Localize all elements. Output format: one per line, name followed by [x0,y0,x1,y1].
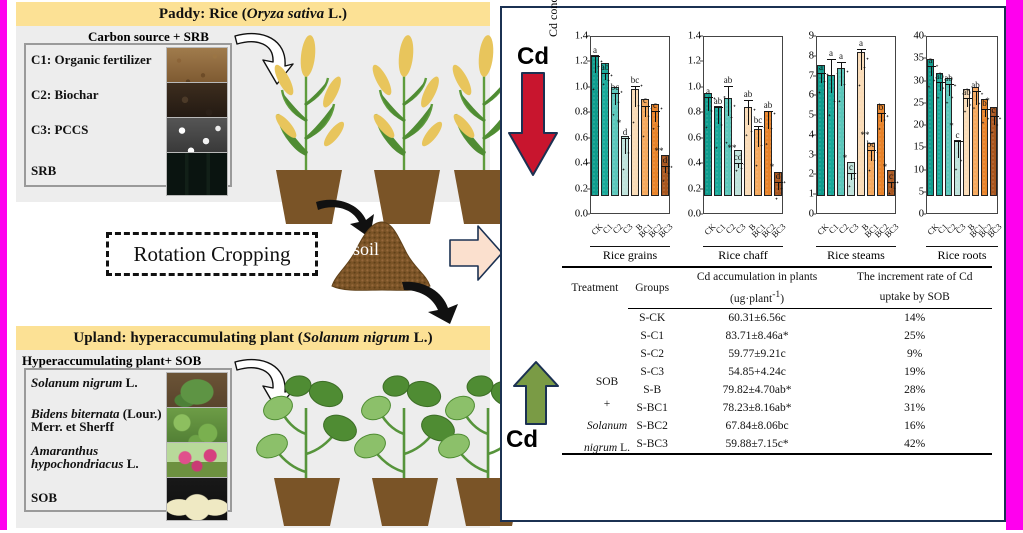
data-point-marker [670,165,673,168]
y-axis-tick-mark [587,163,590,164]
td-group: S-CK [628,308,677,327]
significance-letter: c [889,171,893,181]
y-axis-tick-mark [587,214,590,215]
th-unit-suffix: ) [780,293,784,305]
y-axis-label: Cd concentration (mg/kg) [546,0,561,50]
bar [817,65,825,196]
error-bar-cap [641,106,650,107]
legend-bidens-authority: (Lour.) [120,406,162,421]
soil-label: soil [353,239,379,260]
y-axis-tick-mark [813,95,816,96]
legend-item-c3: C3: PCCS [26,115,230,150]
td-accumulation: 67.84±8.06bc [677,417,838,435]
th-accumulation-line1: Cd accumulation in plants [677,267,838,286]
td-treatment-spacer [562,417,628,435]
td-increment: 31% [837,399,992,417]
legend-c1-text: C1: Organic fertilizer [31,53,152,66]
significance-letter: cd [734,152,743,162]
bar [857,52,865,196]
error-bar [645,106,646,117]
error-bar [871,150,872,161]
paddy-panel-title: Paddy: Rice (Oryza sativa L.) [16,2,490,26]
td-group: S-BC3 [628,435,677,454]
error-bar-cap [936,82,945,83]
y-axis-tick-mark [700,137,703,138]
error-bar [949,84,950,96]
td-accumulation: 83.71±8.46a* [677,327,838,345]
error-bar [851,173,852,180]
hyperaccumulating-plant-label: Hyperaccumulating plant+ SOB [22,353,201,369]
error-bar-cap [764,111,773,112]
upland-title-species: Solanum nigrum [303,330,410,346]
arrow-to-upland-icon [400,278,464,324]
chart-rice-roots: 0510152025303540aCKabC1abC2c*C3abBabBC1b… [900,28,1000,260]
error-bar-cap [981,109,990,110]
error-bar [728,86,729,117]
table-row: S-BC267.84±8.06bc16% [562,417,992,435]
y-axis-tick-mark [587,86,590,87]
td-increment: 28% [837,381,992,399]
legend-c3-name: PCCS [54,122,88,137]
cd-decrease-indicator: Cd [507,45,559,185]
carbon-source-legend-box: C1: Organic fertilizer C2: Biochar [24,43,232,187]
td-accumulation: 59.77±9.21c [677,345,838,363]
bar-texture [828,76,834,195]
error-bar [931,66,932,77]
upland-panel-title: Upland: hyperaccumulating plant (Solanum… [16,326,490,350]
bar [927,59,935,197]
th-increment-line1: The increment rate of Cd [837,267,992,286]
green-up-arrow-icon [512,360,562,426]
bar-texture [858,53,864,195]
error-bar-cap [867,150,876,151]
y-axis-tick-mark [700,214,703,215]
legend-solanum-text: Solanum nigrum L. [31,376,138,389]
y-axis-tick-mark [923,36,926,37]
error-bar-cap [837,62,846,63]
legend-c3-text: C3: PCCS [31,123,88,136]
y-axis-tick-mark [700,86,703,87]
legend-c3-code: C3: [31,122,51,137]
error-bar-cap [887,182,896,183]
error-bar [615,93,616,104]
significance-letter: ab [601,62,610,72]
cd-accumulation-table: Treatment Groups Cd accumulation in plan… [562,266,992,455]
td-increment: 42% [837,435,992,454]
td-group: S-BC1 [628,399,677,417]
legend-c2-text: C2: Biochar [31,88,99,101]
error-bar [881,113,882,122]
paddy-title-part1: Paddy: Rice ( [159,6,247,22]
paddy-panel: Paddy: Rice (Oryza sativa L.) Carbon sou… [16,2,490,202]
significance-letter: ab [714,96,723,106]
significance-letter: ab [962,87,971,97]
data-point-marker [896,181,899,184]
y-axis-tick-mark [587,188,590,189]
transition-right-arrow-icon [448,222,504,284]
error-bar [985,109,986,117]
paddy-title-part2: L.) [324,6,347,22]
srb-bottles-thumbnail [166,152,228,196]
data-point-marker [999,117,1002,120]
legend-c1-name: Organic fertilizer [54,52,151,67]
significance-letter: ab [935,71,944,81]
td-treatment-spacer [562,381,628,399]
error-bar-cap [963,98,972,99]
error-bar-cap [611,93,620,94]
significance-letter: ab [724,75,733,85]
td-accumulation: 60.31±6.56c [677,308,838,327]
y-axis-tick-mark [923,102,926,103]
th-accumulation-line2: (ug·plant-1) [677,286,838,308]
legend-item-c1: C1: Organic fertilizer [26,45,230,80]
significance-letter: c [992,105,996,115]
significance-star: * [843,153,848,163]
paddy-title-species: Oryza sativa [247,6,324,22]
significance-letter: bc [611,82,620,92]
chart-rice-grains: 0.00.20.40.60.81.01.21.4aCKabC1bcC2d*C3b… [564,28,672,260]
significance-letter: c [653,100,657,110]
td-increment: 16% [837,417,992,435]
significance-letter: d [623,127,628,137]
group-rule [816,246,896,247]
error-bar [841,62,842,86]
y-axis-tick-mark [587,61,590,62]
error-bar [861,49,862,70]
table-header-row: Treatment Groups Cd accumulation in plan… [562,267,992,286]
td-accumulation: 78.23±8.16ab* [677,399,838,417]
data-point-marker [783,181,786,184]
error-bar-cap [877,113,886,114]
significance-letter: c [643,95,647,105]
error-bar-cap [927,66,936,67]
error-bar [655,111,656,122]
significance-letter: a [706,86,710,96]
significance-star: * [985,96,990,106]
error-bar-cap [714,107,723,108]
error-bar-cap [601,73,610,74]
error-bar [595,56,596,73]
y-axis-tick-mark [813,134,816,135]
y-axis-tick-mark [700,61,703,62]
error-bar [665,166,666,174]
paddy-panel-body: Carbon source + SRB C1: Organic fertiliz… [16,26,490,198]
legend-bidens-text: Bidens biternata (Lour.) Merr. et Sherff [31,407,162,434]
table-row: S-B79.82±4.70ab*28% [562,381,992,399]
significance-star: ** [728,143,737,153]
significance-letter: a [859,38,863,48]
group-rule [590,246,670,247]
solanum-pot-1 [272,476,342,533]
error-bar-cap [651,111,660,112]
significance-star: * [770,162,775,172]
error-bar-cap [774,182,783,183]
legend-srb-code: SRB [31,163,56,178]
legend-sob-text: SOB [31,491,57,504]
significance-star: * [949,121,954,131]
left-illustration-column: Paddy: Rice (Oryza sativa L.) Carbon sou… [8,0,498,530]
significance-star: ** [655,146,664,156]
legend-amaranthus-species: hypochondriacus [31,456,123,471]
error-bar-cap [621,138,630,139]
significance-letter: a [819,62,823,72]
table-row: S-C259.77±9.21c9% [562,345,992,363]
error-bar [976,91,977,105]
hyperaccumulator-legend-box: Solanum nigrum L. Bidens biternata (Lour… [24,368,232,512]
legend-solanum-suffix: L. [122,375,137,390]
significance-letter: c [956,130,960,140]
th-treatment: Treatment [562,267,628,308]
y-axis-tick-mark [923,169,926,170]
significance-letter: a [593,45,597,55]
significance-letter: c [849,162,853,172]
y-axis-tick-mark [813,214,816,215]
td-group: S-C1 [628,327,677,345]
significance-letter: a [839,51,843,61]
error-bar [718,107,719,124]
group-rule [703,246,783,247]
error-bar-cap [954,141,963,142]
red-down-arrow-icon [507,71,559,179]
solanum-pot-2 [370,476,440,533]
bar [837,68,845,196]
th-increment-line2: uptake by SOB [837,286,992,308]
error-bar-cap [734,163,743,164]
y-axis-tick-mark [923,191,926,192]
error-bar [635,86,636,108]
error-bar-cap [945,84,954,85]
td-treatment-spacer [562,363,628,381]
bar [827,75,835,196]
significance-letter: bc [631,75,640,85]
significance-letter: bc [867,139,876,149]
th-unit-sup: -1 [772,289,780,300]
error-bar [708,97,709,111]
td-increment: 9% [837,345,992,363]
left-accent-bar [0,0,7,530]
significance-letter: a [829,48,833,58]
rotation-cropping-box: Rotation Cropping [106,232,318,276]
table-row: S-BC178.23±8.16ab*31% [562,399,992,417]
legend-srb-text: SRB [31,164,56,177]
upland-panel-body: Hyperaccumulating plant+ SOB Solanum nig… [16,350,490,524]
significance-letter: a [929,55,933,65]
y-axis-tick-mark [587,137,590,138]
bar-texture [937,74,943,195]
table-area: Cd SOB + Solanum nigrum L. Treatment Gro… [502,260,1004,522]
y-axis-tick-mark [813,55,816,56]
y-axis-tick-mark [813,194,816,195]
td-increment: 25% [837,327,992,345]
bar-texture [602,64,608,196]
significance-star: ** [861,130,870,140]
td-treatment-spacer [562,308,628,327]
y-axis-tick-mark [700,36,703,37]
legend-c2-code: C2: [31,87,51,102]
error-bar-cap [847,173,856,174]
error-bar [967,98,968,106]
cd-up-label: Cd [506,426,562,454]
chart-rice-steams: 0123456789aCKaC1aC2c*C3aBbc**BC1bBC2c*BC… [790,28,898,260]
chart-rice-chaff: 0.00.20.40.60.81.01.21.4aCKabC1abC2cd**C… [677,28,785,260]
y-axis-tick-mark [813,75,816,76]
bar-texture [592,56,598,195]
th-groups: Groups [628,267,677,308]
error-bar-cap [857,49,866,50]
significance-letter: bc [754,115,763,125]
y-axis-tick-mark [923,147,926,148]
legend-item-amaranthus: Amaranthus hypochondriacus L. [26,440,230,475]
error-bar-cap [817,73,826,74]
cd-increase-indicator: Cd [506,360,562,446]
upland-title-part2: L.) [410,330,433,346]
y-axis-tick-mark [700,188,703,189]
table-head: Treatment Groups Cd accumulation in plan… [562,267,992,308]
table-row: S-BC359.88±7.15c*42% [562,435,992,454]
error-bar-cap [972,91,981,92]
td-treatment-spacer [562,435,628,454]
table-row: S-C183.71±8.46a*25% [562,327,992,345]
significance-letter: ab [971,80,980,90]
y-axis-tick-mark [923,80,926,81]
td-group: S-C2 [628,345,677,363]
bar [936,73,944,196]
y-axis-tick-mark [587,36,590,37]
right-accent-bar [1006,0,1023,530]
bar [601,63,609,197]
legend-amaranthus-text: Amaranthus hypochondriacus L. [31,444,139,471]
th-unit-prefix: (ug·plant [730,293,772,305]
legend-c2-name: Biochar [54,87,98,102]
significance-star: * [883,162,888,172]
td-treatment-spacer [562,399,628,417]
td-accumulation: 54.85+4.24c [677,363,838,381]
table-row: S-CK60.31±6.56c14% [562,308,992,327]
upland-panel: Upland: hyperaccumulating plant (Solanum… [16,326,490,528]
error-bar-cap [827,59,836,60]
graphical-abstract-page: Paddy: Rice (Oryza sativa L.) Carbon sou… [0,0,1023,530]
significance-letter: ab [744,89,753,99]
legend-item-sob: SOB [26,475,230,510]
error-bar [994,116,995,125]
error-bar [831,59,832,94]
error-bar-cap [990,116,999,117]
error-bar [625,138,626,155]
error-bar-cap [661,166,670,167]
td-increment: 14% [837,308,992,327]
bar-texture [818,66,824,195]
significance-letter: d [776,171,781,181]
error-bar-cap [704,97,713,98]
rotation-cropping-label: Rotation Cropping [134,242,291,267]
y-axis-tick-mark [813,115,816,116]
y-axis-tick-mark [923,214,926,215]
significance-letter: ab [944,73,953,83]
y-axis-tick-mark [813,36,816,37]
td-increment: 19% [837,363,992,381]
td-group: S-C3 [628,363,677,381]
error-bar-cap [631,86,640,87]
charts-area: Cd Cd concentration (mg/kg) 0.00.20.40.6… [502,10,1004,260]
y-axis-tick-mark [813,154,816,155]
bar-texture [946,79,952,195]
legend-item-c2: C2: Biochar [26,80,230,115]
y-axis-tick-mark [923,58,926,59]
error-bar-cap [754,126,763,127]
significance-letter: ab [764,100,773,110]
legend-item-srb: SRB [26,150,230,185]
upland-title-part1: Upland: hyperaccumulating plant ( [73,330,303,346]
bar-texture [928,60,934,196]
error-bar [768,111,769,129]
bar [591,55,599,196]
bar-texture [838,69,844,195]
td-accumulation: 59.88±7.15c* [677,435,838,454]
td-group: S-B [628,381,677,399]
error-bar-cap [724,86,733,87]
td-group: S-BC2 [628,417,677,435]
td-treatment-spacer [562,345,628,363]
y-axis-tick-mark [587,112,590,113]
legend-bidens-authority2: Merr. et Sherff [31,420,162,433]
significance-letter: b [879,102,884,112]
y-axis-tick-mark [700,112,703,113]
error-bar [778,182,779,190]
error-bar [758,126,759,146]
error-bar [958,141,959,158]
sob-bottles-thumbnail [166,477,228,521]
error-bar-cap [744,100,753,101]
results-panel: Cd Cd concentration (mg/kg) 0.00.20.40.6… [500,6,1006,522]
td-treatment-spacer [562,327,628,345]
y-axis-tick-mark [813,174,816,175]
legend-amaranthus-suffix: L. [123,456,138,471]
legend-item-solanum: Solanum nigrum L. [26,370,230,405]
error-bar [940,82,941,91]
error-bar [821,73,822,83]
significance-star: * [617,118,622,128]
group-rule [926,246,998,247]
legend-c1-code: C1: [31,52,51,67]
table-body: S-CK60.31±6.56c14%S-C183.71±8.46a*25%S-C… [562,308,992,454]
td-accumulation: 79.82±4.70ab* [677,381,838,399]
error-bar [605,73,606,81]
table-row: S-C354.85+4.24c19% [562,363,992,381]
error-bar [748,100,749,125]
significance-letter: d [663,155,668,165]
legend-item-bidens: Bidens biternata (Lour.) Merr. et Sherff [26,405,230,440]
legend-solanum-species: Solanum nigrum [31,375,122,390]
y-axis-tick-mark [700,163,703,164]
error-bar-cap [591,56,600,57]
y-axis-tick-mark [923,125,926,126]
